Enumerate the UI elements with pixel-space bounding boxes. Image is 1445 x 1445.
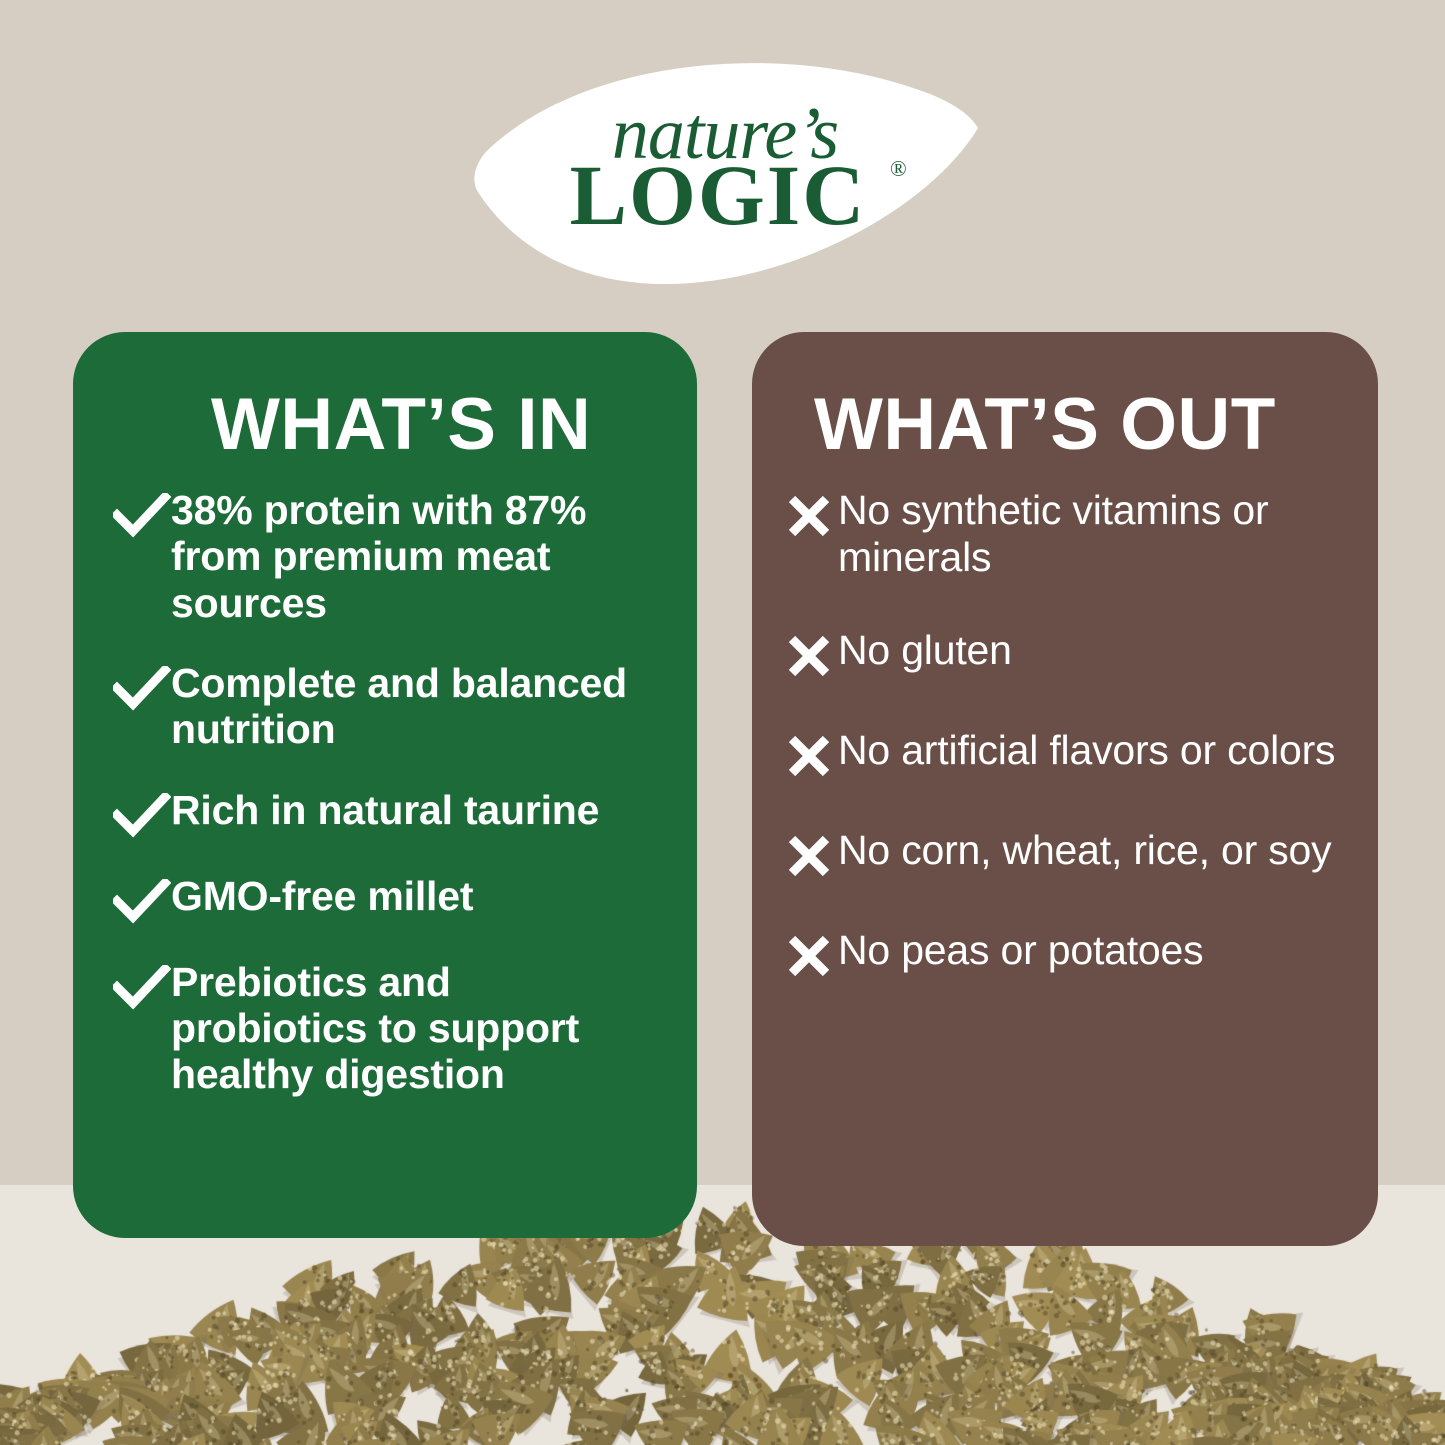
list-item: Prebiotics and probiotics to support hea… xyxy=(113,959,657,1098)
check-icon xyxy=(113,965,171,1011)
list-item: Complete and balanced nutrition xyxy=(113,660,657,753)
x-icon xyxy=(780,835,838,881)
x-icon xyxy=(780,635,838,681)
whats-in-title: WHAT’S IN xyxy=(113,388,657,461)
check-icon xyxy=(113,879,171,925)
check-icon xyxy=(113,666,171,712)
list-item: No gluten xyxy=(780,627,1338,681)
list-item: No corn, wheat, rice, or soy xyxy=(780,827,1338,881)
brand-logo: nature’s LOGIC ® xyxy=(460,48,980,298)
whats-in-panel: WHAT’S IN 38% protein with 87% from prem… xyxy=(73,332,697,1238)
list-item-label: No artificial flavors or colors xyxy=(838,727,1335,774)
whats-out-list: No synthetic vitamins or minerals No glu… xyxy=(780,487,1338,981)
list-item: No synthetic vitamins or minerals xyxy=(780,487,1338,581)
list-item-label: No synthetic vitamins or minerals xyxy=(838,487,1338,581)
list-item: No artificial flavors or colors xyxy=(780,727,1338,781)
list-item-label: Prebiotics and probiotics to support hea… xyxy=(171,959,657,1098)
logo-registered-mark: ® xyxy=(890,156,907,181)
list-item: GMO-free millet xyxy=(113,873,657,925)
list-item-label: Complete and balanced nutrition xyxy=(171,660,657,753)
whats-in-list: 38% protein with 87% from premium meat s… xyxy=(113,487,657,1098)
check-icon xyxy=(113,793,171,839)
list-item-label: No gluten xyxy=(838,627,1012,674)
whats-out-title: WHAT’S OUT xyxy=(780,388,1338,461)
x-icon xyxy=(780,495,838,541)
list-item-label: 38% protein with 87% from premium meat s… xyxy=(171,487,657,626)
logo-wordmark-text: LOGIC xyxy=(570,147,867,243)
x-icon xyxy=(780,935,838,981)
list-item: No peas or potatoes xyxy=(780,927,1338,981)
whats-out-panel: WHAT’S OUT No synthetic vitamins or mine… xyxy=(752,332,1378,1246)
x-icon xyxy=(780,735,838,781)
list-item-label: No corn, wheat, rice, or soy xyxy=(838,827,1331,874)
list-item: Rich in natural taurine xyxy=(113,787,657,839)
list-item-label: Rich in natural taurine xyxy=(171,787,599,833)
list-item: 38% protein with 87% from premium meat s… xyxy=(113,487,657,626)
infographic-canvas: nature’s LOGIC ® WHAT’S IN 38% protein w… xyxy=(0,0,1445,1445)
list-item-label: No peas or potatoes xyxy=(838,927,1203,974)
check-icon xyxy=(113,493,171,539)
list-item-label: GMO-free millet xyxy=(171,873,473,919)
